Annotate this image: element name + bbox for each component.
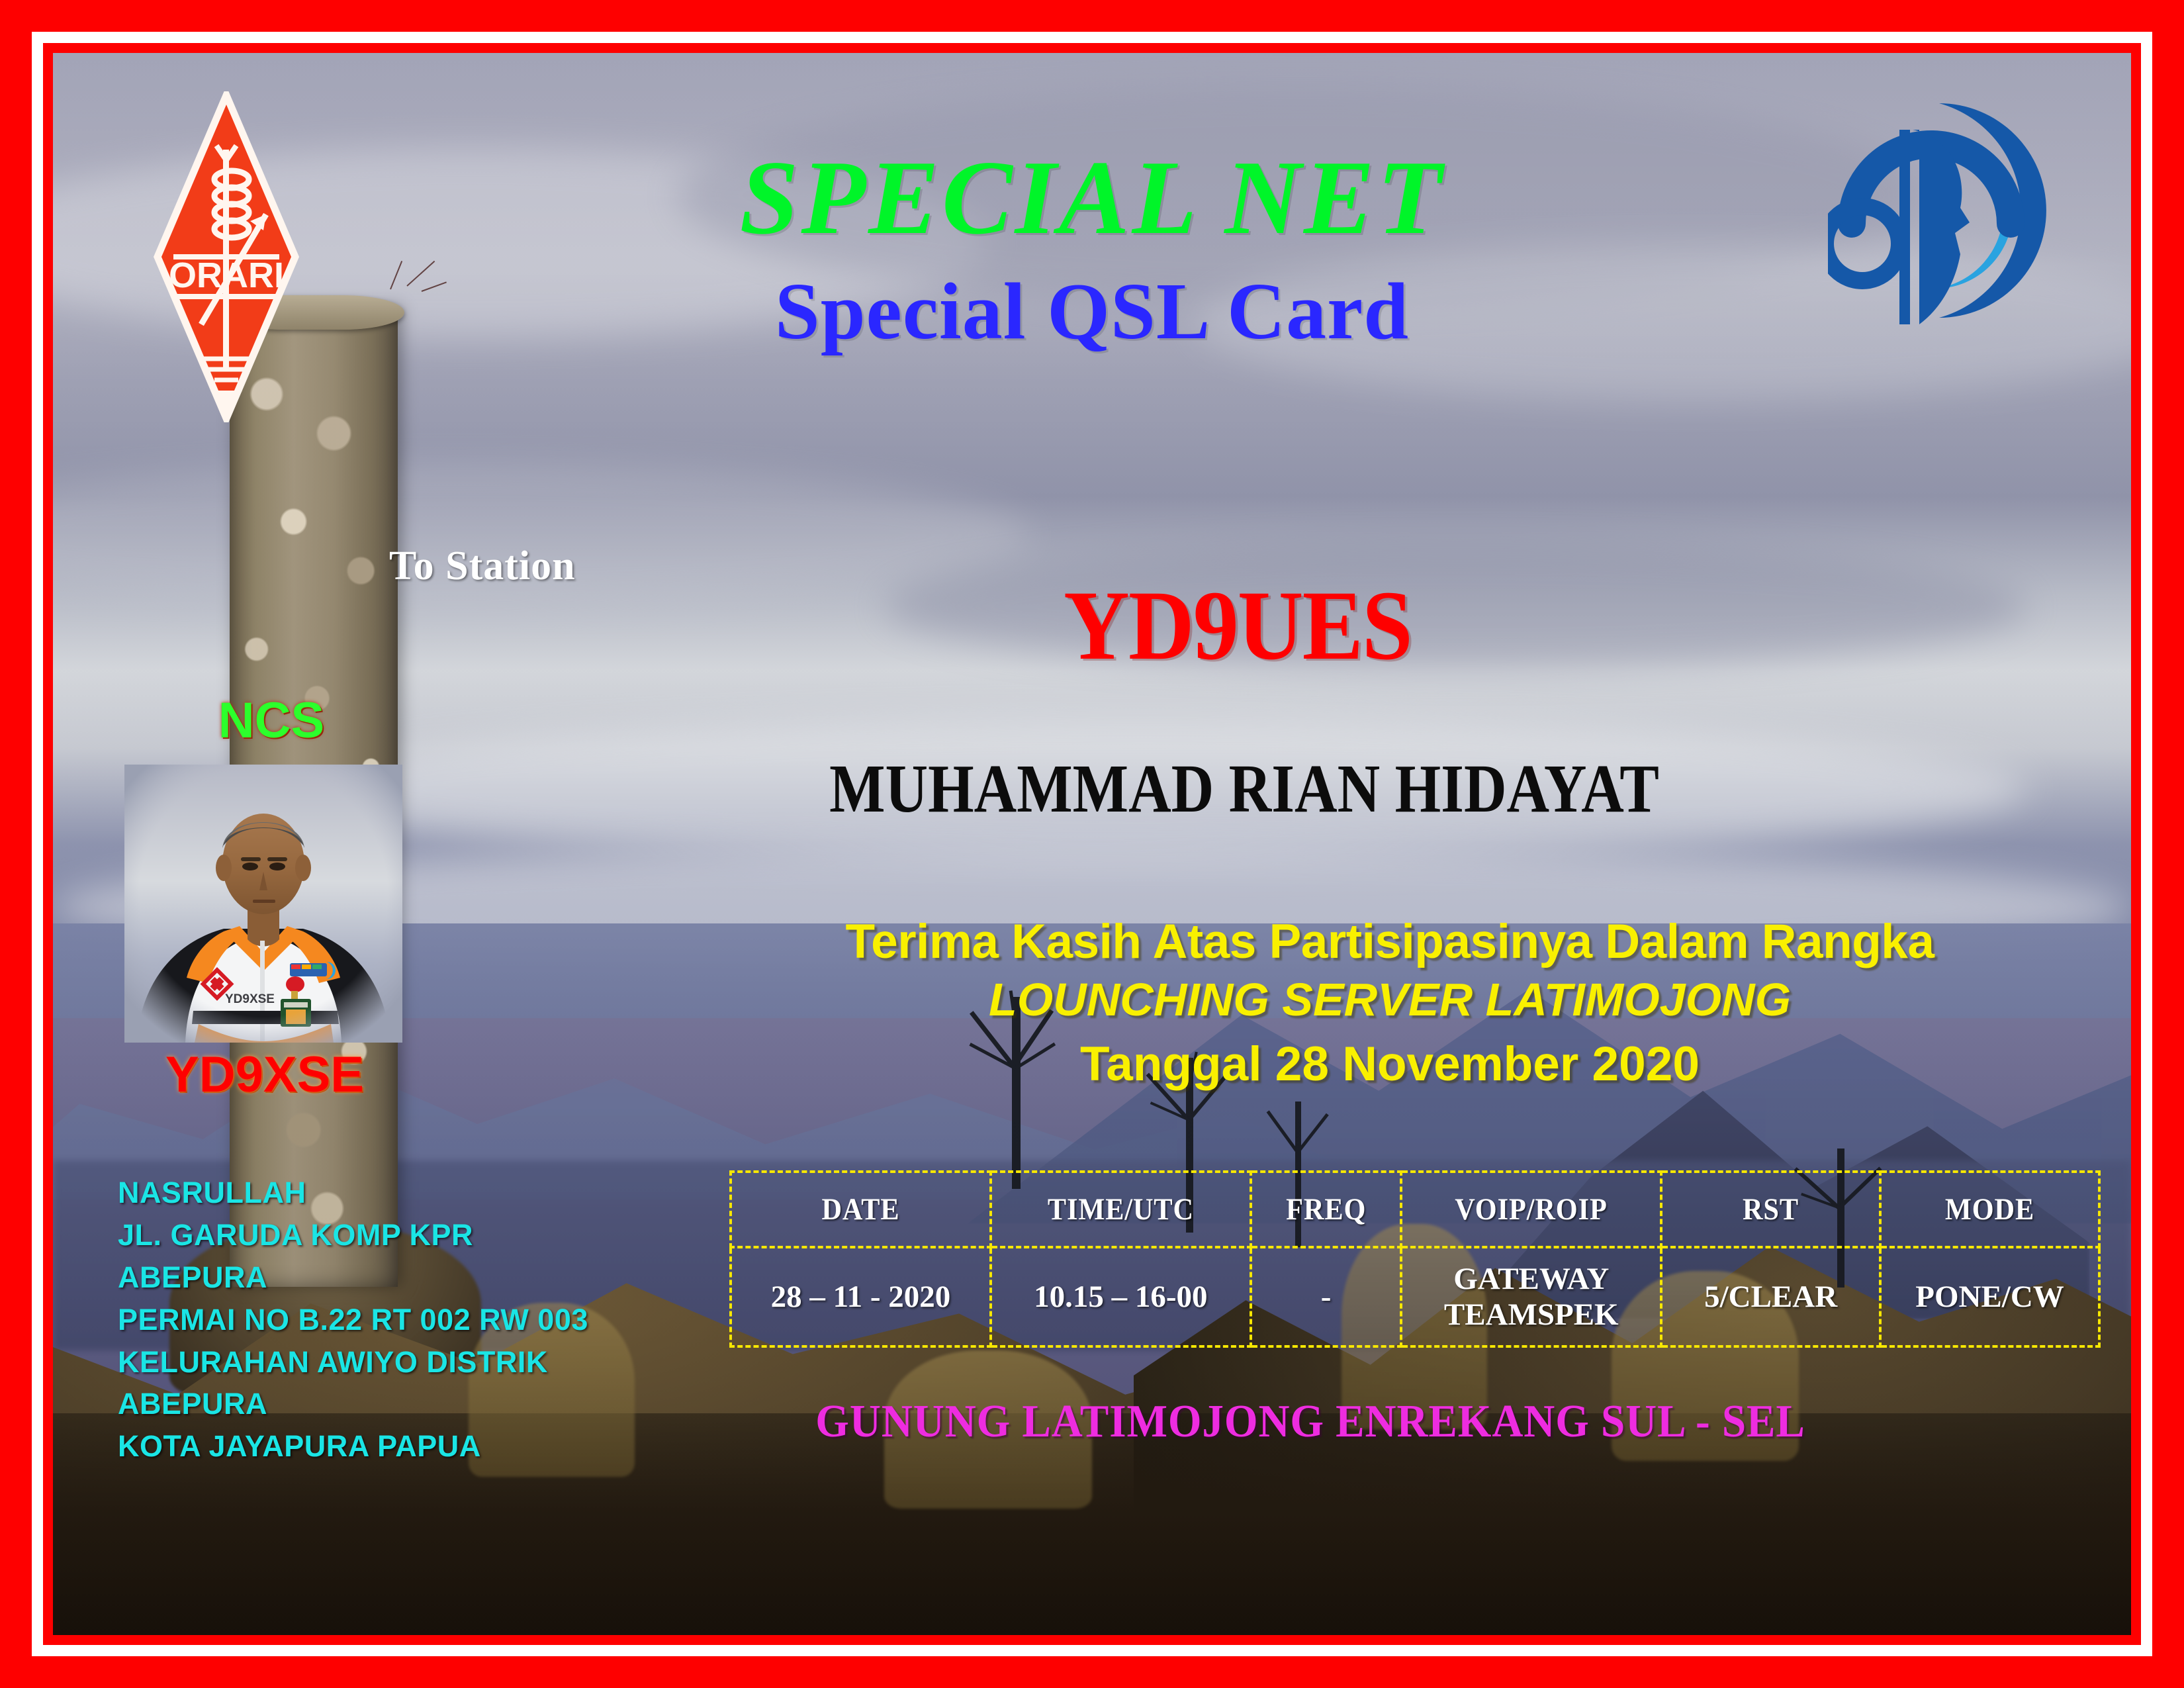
cell-freq: - — [1251, 1247, 1401, 1346]
qsl-card: ORARI — [0, 0, 2184, 1688]
operator-name: MUHAMMAD RIAN HIDAYAT — [760, 755, 1728, 823]
ncs-label: NCS — [162, 692, 381, 749]
thanks-line-1: Terima Kasih Atas Partisipasinya Dalam R… — [728, 914, 2052, 970]
address-line: PERMAI NO B.22 RT 002 RW 003 — [118, 1299, 660, 1341]
thanks-line-3: Tanggal 28 November 2020 — [728, 1030, 2052, 1099]
address-block: NASRULLAH JL. GARUDA KOMP KPR ABEPURA PE… — [118, 1172, 660, 1468]
page-subtitle: Special QSL Card — [53, 271, 2131, 352]
station-callsign: YD9UES — [787, 576, 1688, 675]
orari-logo: ORARI — [154, 91, 299, 422]
table-header-time: TIME/UTC — [1004, 1172, 1238, 1247]
cell-rst: 5/CLEAR — [1661, 1247, 1880, 1346]
card-content: ORARI — [53, 53, 2131, 1635]
table-header-voip: VOIP/ROIP — [1414, 1172, 1649, 1247]
location-text: GUNUNG LATIMOJONG ENREKANG SUL - SEL — [695, 1395, 1926, 1448]
cell-voip: GATEWAY TEAMSPEK — [1401, 1247, 1661, 1346]
address-line: KOTA JAYAPURA PAPUA — [118, 1425, 660, 1468]
table-header-freq: FREQ — [1258, 1172, 1394, 1247]
address-line: ABEPURA — [118, 1383, 660, 1425]
cell-time: 10.15 – 16-00 — [991, 1247, 1251, 1346]
table-header-row: DATE TIME/UTC FREQ VOIP/ROIP RST MODE — [731, 1172, 2099, 1247]
footer-motto: "AMATIR RADIO ADALAH PROGRESIVE" — [126, 1625, 1011, 1635]
ncs-callsign: YD9XSE — [119, 1046, 410, 1103]
ncs-operator-photo: YD9XSE — [124, 765, 402, 1043]
to-station-label: To Station — [389, 543, 576, 590]
cell-mode: PONE/CW — [1880, 1247, 2099, 1346]
address-line: JL. GARUDA KOMP KPR — [118, 1214, 660, 1256]
card-photo-area: ORARI — [53, 53, 2131, 1635]
table-header-mode: MODE — [1891, 1172, 2089, 1247]
address-line: ABEPURA — [118, 1256, 660, 1299]
thanks-block: Terima Kasih Atas Partisipasinya Dalam R… — [728, 914, 2052, 1098]
page-title: SPECIAL NET — [53, 144, 2131, 250]
address-line: KELURAHAN AWIYO DISTRIK — [118, 1341, 660, 1383]
footer-website: Address : amatir.latimojong.com — [1385, 1625, 2052, 1635]
table-header-rst: RST — [1672, 1172, 1870, 1247]
table-header-date: DATE — [744, 1172, 978, 1247]
cell-voip-line-1: GATEWAY — [1403, 1261, 1659, 1297]
cell-date: 28 – 11 - 2020 — [731, 1247, 991, 1346]
table-row: 28 – 11 - 2020 10.15 – 16-00 - GATEWAY T… — [731, 1247, 2099, 1346]
qso-log-table: DATE TIME/UTC FREQ VOIP/ROIP RST MODE 28… — [729, 1170, 2101, 1348]
address-line: NASRULLAH — [118, 1172, 660, 1214]
cell-voip-line-2: TEAMSPEK — [1403, 1297, 1659, 1333]
thanks-line-2: LOUNCHING SERVER LATIMOJONG — [728, 970, 2052, 1030]
